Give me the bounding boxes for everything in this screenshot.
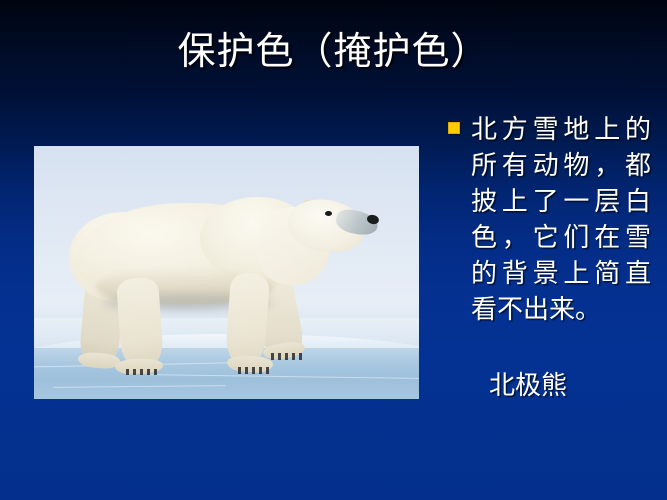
slide-title: 保护色（掩护色） — [0, 28, 667, 74]
bullet-square-icon — [448, 122, 460, 134]
bullet-paragraph: 北方雪地上的所有动物，都披上了一层白色，它们在雪的背景上简直看不出来。 — [471, 112, 651, 328]
bear-claws — [271, 353, 302, 359]
polar-bear-figure — [34, 146, 419, 399]
slide: 保护色（掩护色） — [0, 0, 667, 500]
bear-hind-leg-near — [116, 276, 164, 367]
bear-claws — [238, 367, 273, 373]
bullet-list-item: 北方雪地上的所有动物，都披上了一层白色，它们在雪的背景上简直看不出来。 — [448, 112, 660, 328]
image-caption: 北极熊 — [489, 369, 567, 403]
bear-claws — [126, 369, 161, 375]
polar-bear-photo — [34, 146, 419, 399]
